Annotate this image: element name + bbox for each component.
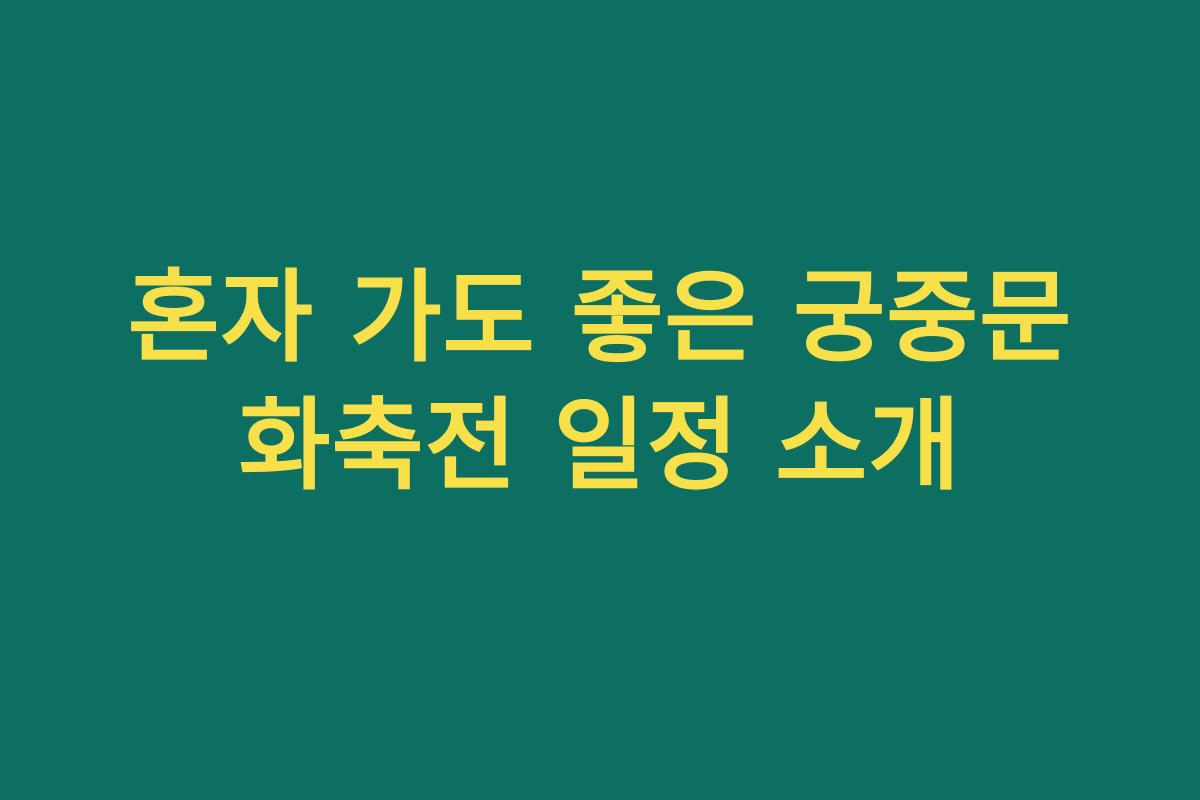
headline-block: 혼자 가도 좋은 궁중문 화축전 일정 소개	[0, 254, 1200, 510]
headline-line-2: 화축전 일정 소개	[0, 382, 1200, 510]
title-card: 혼자 가도 좋은 궁중문 화축전 일정 소개	[0, 0, 1200, 800]
headline-line-1: 혼자 가도 좋은 궁중문	[0, 254, 1200, 382]
